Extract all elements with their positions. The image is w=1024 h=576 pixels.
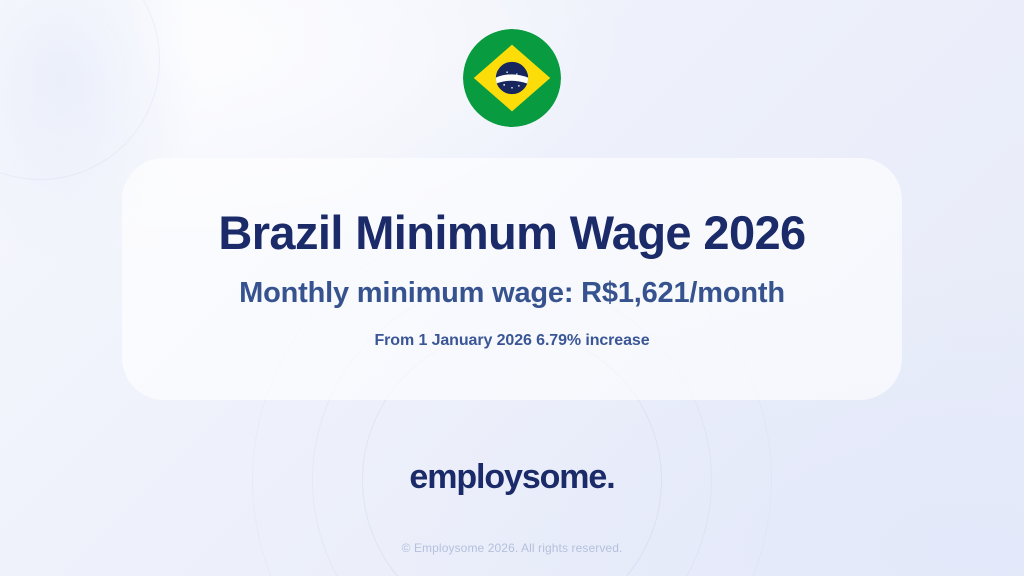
page-title: Brazil Minimum Wage 2026 xyxy=(218,208,805,257)
copyright-text: © Employsome 2026. All rights reserved. xyxy=(0,541,1024,555)
brazil-flag-icon xyxy=(463,29,561,127)
effective-date-note: From 1 January 2026 6.79% increase xyxy=(375,332,650,350)
wage-info-card: Brazil Minimum Wage 2026 Monthly minimum… xyxy=(122,158,902,400)
decorative-ring-corner xyxy=(0,0,160,180)
brand-wordmark: employsome. xyxy=(0,458,1024,497)
wage-amount-subtitle: Monthly minimum wage: R$1,621/month xyxy=(239,277,785,310)
poster-canvas: Brazil Minimum Wage 2026 Monthly minimum… xyxy=(0,0,1024,576)
